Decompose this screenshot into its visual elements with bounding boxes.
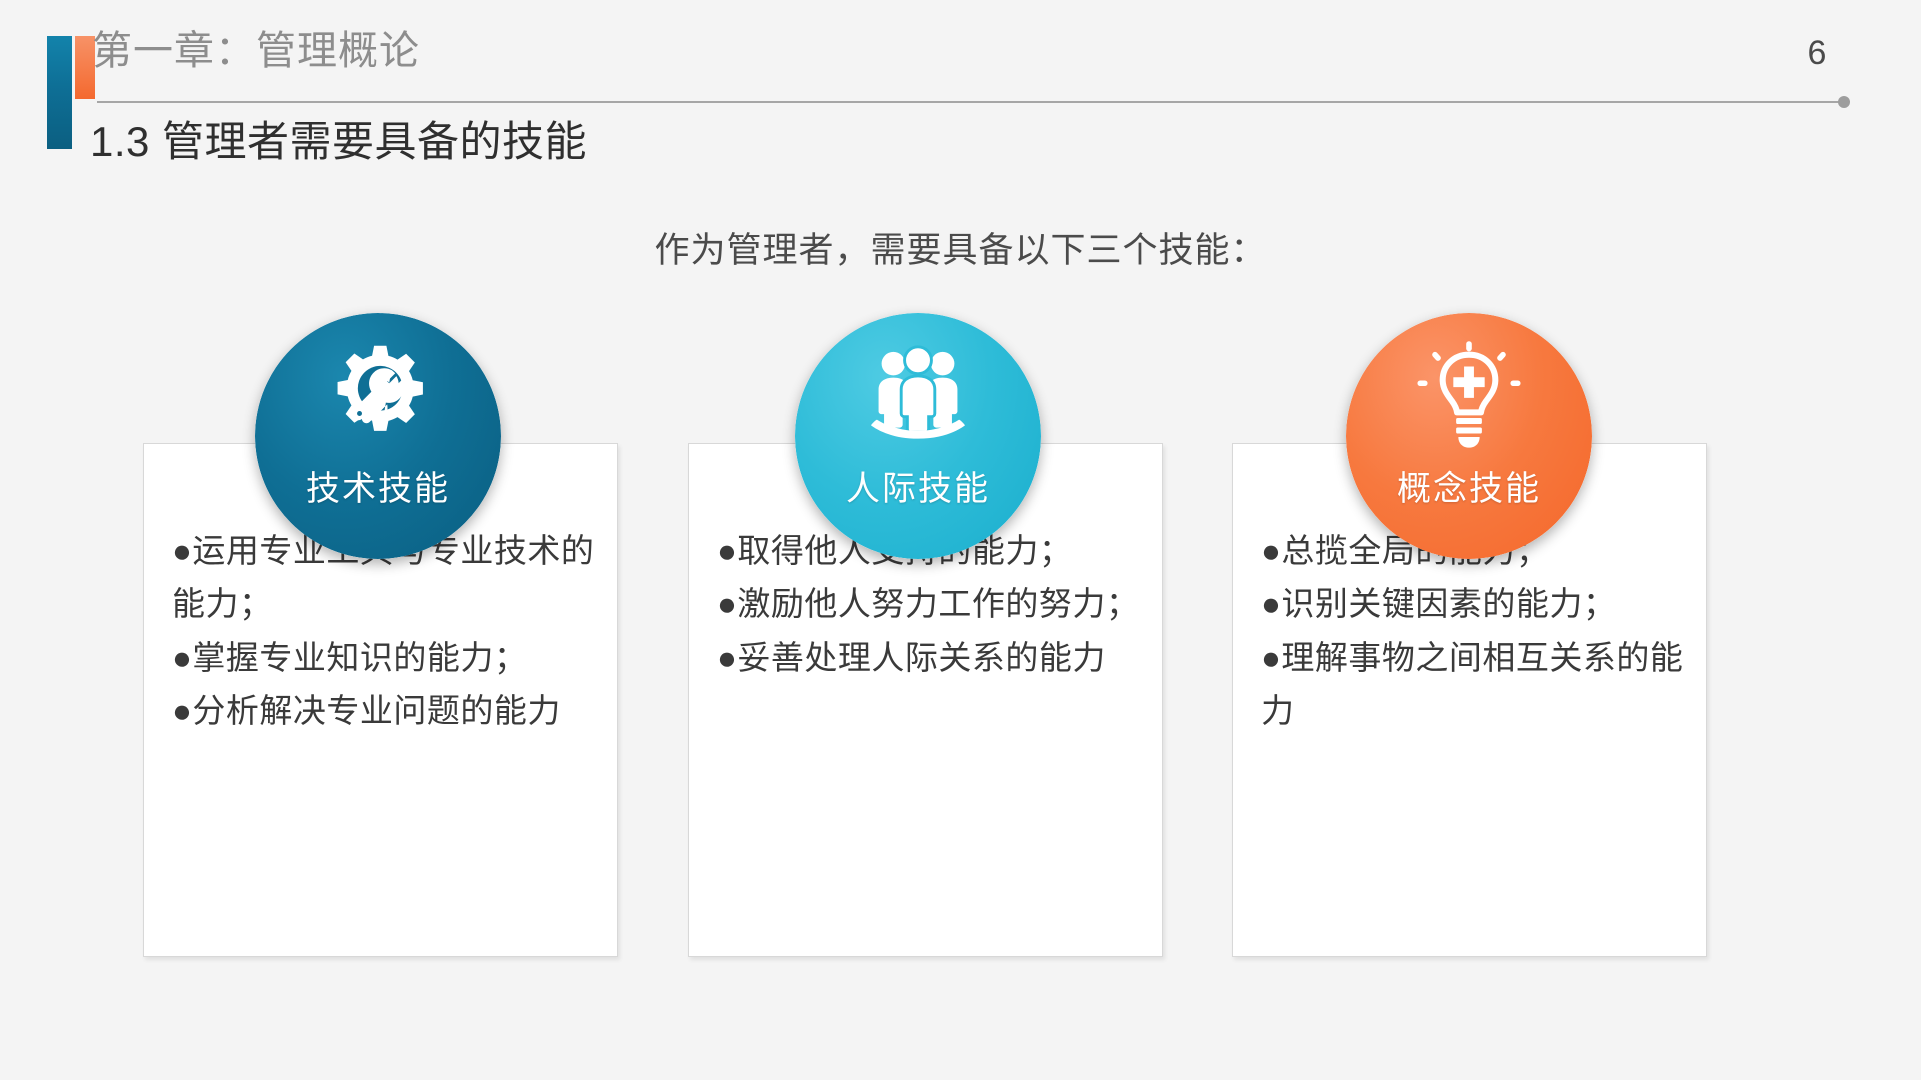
header-divider-rule	[97, 101, 1845, 103]
bullet-item: ●分析解决专业问题的能力	[172, 684, 599, 737]
skill-badge-technical-label: 技术技能	[255, 461, 501, 510]
header-divider-dot-icon	[1838, 96, 1850, 108]
bullet-item: ●掌握专业知识的能力；	[172, 631, 599, 684]
skill-badge-conceptual-label: 概念技能	[1346, 461, 1592, 510]
skill-badge-technical[interactable]: 技术技能	[255, 313, 501, 559]
skill-badge-conceptual[interactable]: 概念技能	[1346, 313, 1592, 559]
gear-wrench-icon	[322, 339, 434, 451]
slide-canvas: 第一章：管理概论 6 1.3 管理者需要具备的技能 作为管理者，需要具备以下三个…	[0, 0, 1921, 1080]
lead-in-text: 作为管理者，需要具备以下三个技能：	[0, 222, 1921, 273]
bullet-item: ●妥善处理人际关系的能力	[717, 631, 1144, 684]
chapter-title: 第一章：管理概论	[92, 24, 420, 78]
lightbulb-plus-icon	[1413, 339, 1525, 451]
skill-badge-interpersonal-label: 人际技能	[795, 461, 1041, 510]
skill-badge-interpersonal[interactable]: 人际技能	[795, 313, 1041, 559]
header-accent-bar-blue	[47, 36, 72, 149]
bullet-item: ●理解事物之间相互关系的能力	[1261, 631, 1688, 738]
bullet-item: ●激励他人努力工作的努力；	[717, 577, 1144, 630]
page-number: 6	[1792, 34, 1842, 73]
three-people-icon	[862, 339, 974, 451]
bullet-item: ●识别关键因素的能力；	[1261, 577, 1688, 630]
section-title: 1.3 管理者需要具备的技能	[90, 108, 587, 169]
